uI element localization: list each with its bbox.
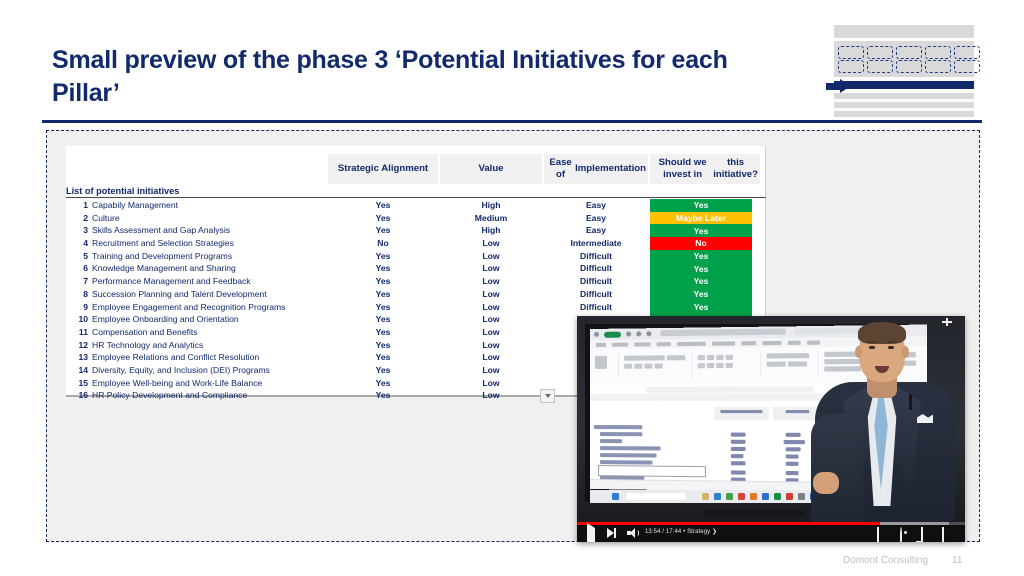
deco-bar (834, 111, 974, 117)
played-progress (577, 522, 880, 525)
initiative-name: Compensation and Benefits (92, 327, 198, 337)
row-number: 5 (66, 251, 88, 261)
cell-ease-of-implementation: Difficult (544, 289, 648, 299)
cell-should-we-invest: Maybe Later (650, 212, 752, 225)
row-number: 12 (66, 340, 88, 350)
subtitles-button[interactable] (877, 528, 879, 542)
filter-dropdown-button[interactable] (540, 389, 555, 403)
table-row[interactable]: 2CultureYesMediumEasyMaybe Later (66, 212, 766, 225)
cell-should-we-invest: Yes (650, 301, 752, 314)
cell-ease-of-implementation: Difficult (544, 276, 648, 286)
initiative-name: Employee Onboarding and Orientation (92, 314, 239, 324)
deco-cell (925, 60, 951, 73)
deco-cell (954, 46, 980, 59)
cell-should-we-invest: Yes (650, 224, 752, 237)
initiative-name: Recruitment and Selection Strategies (92, 238, 234, 248)
cell-strategic-alignment: Yes (328, 378, 438, 388)
video-controls[interactable]: 13:54 / 17:44 • Strategy ❯ (577, 522, 965, 542)
play-button[interactable] (587, 528, 595, 542)
video-timestamp: 13:54 / 17:44 • Strategy ❯ (645, 528, 717, 535)
footer-page-number: 11 (952, 555, 962, 566)
initiative-name: Capabily Management (92, 200, 178, 210)
row-number: 2 (66, 213, 88, 223)
row-number: 8 (66, 289, 88, 299)
page-title: Small preview of the phase 3 ‘Potential … (52, 44, 782, 110)
workbook-name (661, 328, 786, 336)
cell-value: Low (440, 314, 542, 324)
row-number: 15 (66, 378, 88, 388)
table-row[interactable]: 4Recruitment and Selection StrategiesNoL… (66, 237, 766, 250)
table-row[interactable]: 6Knowledge Management and SharingYesLowD… (66, 262, 766, 275)
initiative-name: Employee Well-being and Work-Life Balanc… (92, 378, 262, 388)
deco-bar (834, 102, 974, 108)
cell-should-we-invest: Yes (650, 250, 752, 263)
deco-cell-row-2 (838, 60, 980, 73)
row-number: 11 (66, 327, 88, 337)
row-number: 9 (66, 302, 88, 312)
gear-icon (900, 527, 902, 542)
initiative-name: Training and Development Programs (92, 251, 232, 261)
cell-strategic-alignment: Yes (328, 263, 438, 273)
table-row[interactable]: 8Succession Planning and Talent Developm… (66, 288, 766, 301)
cell-strategic-alignment: Yes (328, 200, 438, 210)
row-number: 1 (66, 200, 88, 210)
cell-ease-of-implementation: Difficult (544, 302, 648, 312)
deco-bar-top (834, 25, 974, 38)
cell-value: Low (440, 378, 542, 388)
cell-value: Low (440, 263, 542, 273)
row-number: 16 (66, 390, 88, 400)
cell-should-we-invest: Yes (650, 199, 752, 212)
cell-should-we-invest: Yes (650, 288, 752, 301)
cell-ease-of-implementation: Easy (544, 225, 648, 235)
cell-strategic-alignment: Yes (328, 251, 438, 261)
row-number: 7 (66, 276, 88, 286)
cell-value: High (440, 200, 542, 210)
cell-value: Medium (440, 213, 542, 223)
chevron-down-icon (545, 394, 551, 398)
cell-should-we-invest: Yes (650, 275, 752, 288)
miniplayer-icon (921, 527, 923, 542)
header-line-1: Should we invest in (652, 157, 713, 180)
row-number: 3 (66, 225, 88, 235)
cell-value: Low (440, 276, 542, 286)
cell-value: Low (440, 302, 542, 312)
table-row[interactable]: 3Skills Assessment and Gap AnalysisYesHi… (66, 224, 766, 237)
cell-strategic-alignment: Yes (328, 225, 438, 235)
row-number: 6 (66, 263, 88, 273)
cell-value: Low (440, 238, 542, 248)
video-frame (577, 316, 965, 522)
cell-value: Low (440, 390, 542, 400)
initiative-name: Employee Engagement and Recognition Prog… (92, 302, 285, 312)
footer-brand: Domont Consulting (843, 555, 928, 566)
cell-strategic-alignment: Yes (328, 340, 438, 350)
cell-strategic-alignment: Yes (328, 390, 438, 400)
cell-should-we-invest: Yes (650, 262, 752, 275)
column-header-ease-of-implementation[interactable]: Ease of Implementation (544, 154, 648, 184)
cell-strategic-alignment: Yes (328, 352, 438, 362)
initiative-name: HR Policy Development and Compliance (92, 390, 247, 400)
deco-cell (838, 60, 864, 73)
cell-value: Low (440, 365, 542, 375)
cell-value: Low (440, 340, 542, 350)
cell-strategic-alignment: Yes (328, 276, 438, 286)
deco-cell (954, 60, 980, 73)
cell-strategic-alignment: No (328, 238, 438, 248)
table-row[interactable]: 9Employee Engagement and Recognition Pro… (66, 301, 766, 314)
cell-strategic-alignment: Yes (328, 365, 438, 375)
deco-bar (834, 93, 974, 99)
cell-strategic-alignment: Yes (328, 302, 438, 312)
header-line-2: Implementation (575, 163, 646, 175)
deco-cell (925, 46, 951, 59)
decorative-graphic (826, 25, 974, 120)
table-row[interactable]: 1Capabily ManagementYesHighEasyYes (66, 199, 766, 212)
initiative-name: Culture (92, 213, 120, 223)
cell-ease-of-implementation: Easy (544, 200, 648, 210)
table-header-row: Strategic Alignment Value Ease of Implem… (66, 146, 765, 184)
miniplayer-button[interactable] (921, 528, 923, 542)
cell-value: High (440, 225, 542, 235)
table-row[interactable]: 5Training and Development ProgramsYesLow… (66, 250, 766, 263)
cell-ease-of-implementation: Easy (544, 213, 648, 223)
deco-cell (838, 46, 864, 59)
arrow-right-icon (826, 80, 852, 92)
table-row[interactable]: 7Performance Management and FeedbackYesL… (66, 275, 766, 288)
deco-cell (896, 60, 922, 73)
header-line-1: Ease of (546, 157, 575, 180)
autosave-toggle-icon (604, 331, 621, 337)
initiative-name: Skills Assessment and Gap Analysis (92, 225, 230, 235)
deco-cell-row-1 (838, 46, 980, 59)
column-header-value[interactable]: Value (440, 154, 542, 184)
cell-strategic-alignment: Yes (328, 213, 438, 223)
title-divider (42, 120, 982, 123)
cell-strategic-alignment: Yes (328, 327, 438, 337)
cell-value: Low (440, 327, 542, 337)
settings-button[interactable] (900, 528, 902, 542)
deco-cell (896, 46, 922, 59)
cell-strategic-alignment: Yes (328, 314, 438, 324)
deco-cell (867, 46, 893, 59)
cell-value: Low (440, 352, 542, 362)
column-header-strategic-alignment[interactable]: Strategic Alignment (328, 154, 438, 184)
initiative-name: Knowledge Management and Sharing (92, 263, 236, 273)
deco-cell (867, 60, 893, 73)
initiative-name: Performance Management and Feedback (92, 276, 251, 286)
display-stand (705, 510, 805, 517)
row-number: 13 (66, 352, 88, 362)
video-player[interactable]: 13:54 / 17:44 • Strategy ❯ (577, 316, 965, 542)
deco-highlight-bar (834, 81, 974, 89)
initiative-name: Succession Planning and Talent Developme… (92, 289, 267, 299)
initiative-name: Employee Relations and Conflict Resoluti… (92, 352, 259, 362)
progress-bar[interactable] (577, 522, 965, 525)
cell-value: Low (440, 289, 542, 299)
play-icon (587, 523, 595, 542)
cell-value: Low (440, 251, 542, 261)
list-of-initiatives-label: List of potential initiatives (64, 186, 276, 196)
header-line-2: this initiative? (713, 157, 758, 180)
row-number: 10 (66, 314, 88, 324)
row-number: 4 (66, 238, 88, 248)
theater-button[interactable] (942, 528, 944, 542)
cell-ease-of-implementation: Intermediate (544, 238, 648, 248)
cell-strategic-alignment: Yes (328, 289, 438, 299)
column-header-should-we-invest[interactable]: Should we invest in this initiative? (650, 154, 760, 184)
theater-icon (942, 527, 944, 542)
initiative-name: Diversity, Equity, and Inclusion (DEI) P… (92, 365, 270, 375)
presenter (809, 322, 959, 522)
cell-ease-of-implementation: Difficult (544, 263, 648, 273)
cell-ease-of-implementation: Difficult (544, 251, 648, 261)
cell-should-we-invest: No (650, 237, 752, 250)
initiative-name: HR Technology and Analytics (92, 340, 203, 350)
row-number: 14 (66, 365, 88, 375)
subtitles-icon (877, 527, 879, 542)
